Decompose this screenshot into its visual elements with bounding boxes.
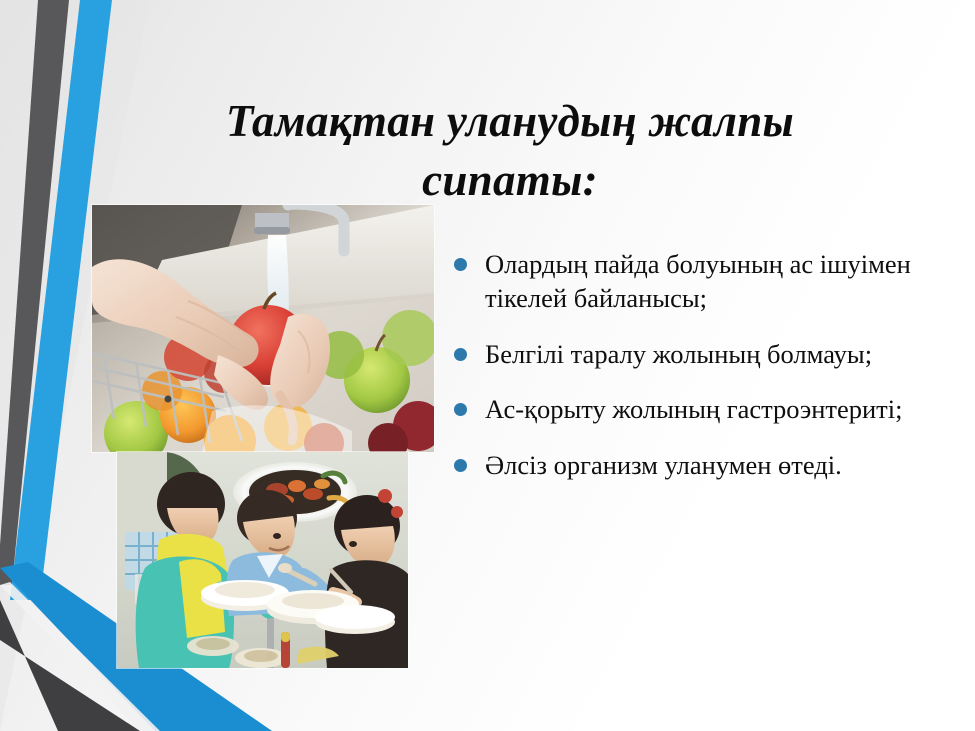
list-item: Ас-қорыту жолының гастроэнтериті; bbox=[448, 392, 958, 426]
bullet-list: Олардың пайда болуының ас ішуімен тікеле… bbox=[448, 247, 958, 482]
bullet-text: Әлсіз организм уланумен өтеді. bbox=[485, 448, 958, 482]
gray-ribbon-top bbox=[0, 0, 69, 585]
presentation-slide: Тамақтан уланудың жалпы сипаты: bbox=[0, 0, 975, 731]
bullet-text: Олардың пайда болуының ас ішуімен тікеле… bbox=[485, 247, 958, 316]
bullet-text: Ас-қорыту жолының гастроэнтериті; bbox=[485, 392, 958, 426]
bullet-dot-icon bbox=[454, 403, 467, 416]
children-eating-photo bbox=[117, 452, 408, 668]
bullet-dot-icon bbox=[454, 459, 467, 472]
list-item: Белгілі таралу жолының болмауы; bbox=[448, 337, 958, 371]
bullet-dot-icon bbox=[454, 258, 467, 271]
children-eating-image bbox=[117, 452, 408, 668]
slide-title: Тамақтан уланудың жалпы сипаты: bbox=[140, 92, 880, 211]
bullet-text: Белгілі таралу жолының болмауы; bbox=[485, 337, 958, 371]
list-item: Әлсіз организм уланумен өтеді. bbox=[448, 448, 958, 482]
bullet-dot-icon bbox=[454, 348, 467, 361]
list-item: Олардың пайда болуының ас ішуімен тікеле… bbox=[448, 247, 958, 316]
washing-fruit-photo bbox=[92, 205, 434, 452]
washing-fruit-image bbox=[92, 205, 434, 452]
